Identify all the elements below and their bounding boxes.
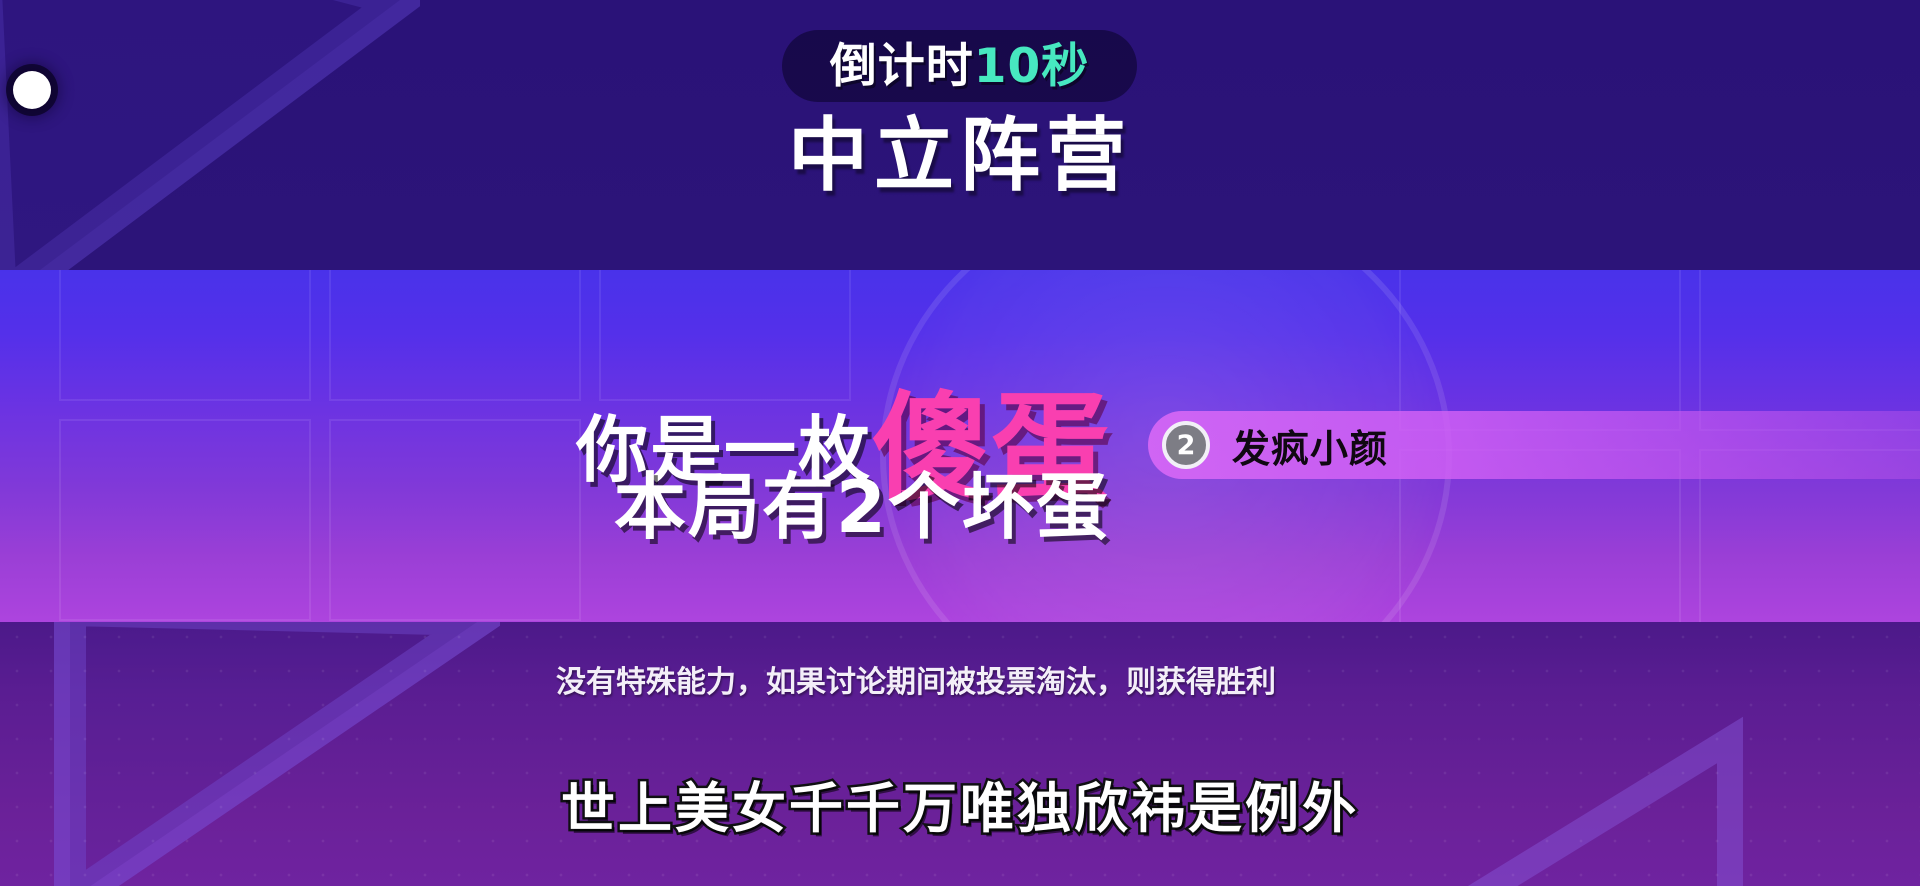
record-dot-icon xyxy=(13,71,51,109)
game-role-reveal-screen: 倒计时10秒 中立阵营 你是一枚傻蛋 本局有2个坏蛋 2 发疯小颜 xyxy=(0,0,1920,886)
role-description: 没有特殊能力，如果讨论期间被投票淘汰，则获得胜利 xyxy=(556,664,1376,702)
player-name-pill[interactable]: 2 发疯小颜 xyxy=(1148,411,1920,479)
role-headline-line2: 本局有2个坏蛋 xyxy=(0,448,1110,553)
video-subtitle: 世上美女千千万唯独欣祎是例外 xyxy=(0,764,1920,843)
triangle-outline-icon xyxy=(0,600,500,886)
countdown-badge: 倒计时10秒 xyxy=(782,30,1137,102)
player-seat-number: 2 xyxy=(1162,421,1210,469)
countdown-value: 10秒 xyxy=(974,43,1089,90)
camp-title: 中立阵营 xyxy=(0,114,1920,198)
player-name-label: 发疯小颜 xyxy=(1232,418,1388,473)
countdown-label: 倒计时 xyxy=(830,43,974,90)
